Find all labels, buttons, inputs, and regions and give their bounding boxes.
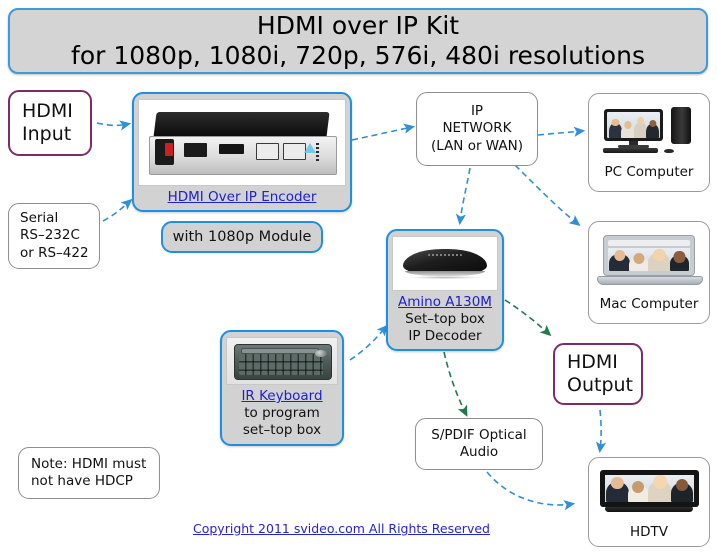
module-label: with 1080p Module xyxy=(173,229,312,245)
connector-ip-network-to-decoder xyxy=(460,168,470,222)
ip-network-line-1: IP xyxy=(471,103,483,120)
pc-computer-photo xyxy=(594,100,704,162)
node-pc-computer[interactable]: PC Computer xyxy=(588,93,710,192)
set-top-box-icon xyxy=(403,249,486,274)
led-strip-icon xyxy=(316,143,319,162)
node-hdmi-over-ip-encoder[interactable]: HDMI Over IP Encoder xyxy=(132,92,352,212)
hdmi-input-line-1: HDMI xyxy=(22,100,73,123)
rj45-port-a-icon xyxy=(256,143,279,160)
node-spdif-optical-audio[interactable]: S/PDIF Optical Audio xyxy=(415,418,543,470)
connector-hdmi-output-to-hdtv xyxy=(600,410,601,450)
node-serial-rs232c[interactable]: Serial RS–232C or RS–422 xyxy=(8,203,100,269)
note-line-1: Note: HDMI must xyxy=(31,456,146,473)
ir-keyboard-line-2: to program xyxy=(244,405,319,422)
serial-line-3: or RS–422 xyxy=(20,245,89,262)
keyboard-icon xyxy=(603,148,658,153)
node-ip-network[interactable]: IP NETWORK (LAN or WAN) xyxy=(416,92,538,166)
keyboard-icon xyxy=(234,344,333,380)
power-connector-icon xyxy=(155,139,174,165)
connector-decoder-to-spdif xyxy=(444,352,466,414)
node-amino-set-top-box[interactable]: Amino A130M Set–top box IP Decoder xyxy=(386,229,504,351)
spdif-line-2: Audio xyxy=(460,444,498,461)
hdmi-output-line-2: Output xyxy=(567,374,633,397)
hdtv-stand-icon xyxy=(605,507,693,512)
decoder-line-3: IP Decoder xyxy=(408,328,481,345)
ip-network-line-3: (LAN or WAN) xyxy=(431,138,523,155)
node-hdmi-output[interactable]: HDMI Output xyxy=(553,343,643,405)
monitor-base-icon xyxy=(618,145,649,147)
connector-decoder-to-hdmi-output xyxy=(505,300,549,334)
connector-ip-network-to-pc xyxy=(538,131,582,135)
node-hdmi-input[interactable]: HDMI Input xyxy=(8,90,92,156)
connector-ir-keyboard-to-decoder xyxy=(350,327,386,360)
note-line-2: not have HDCP xyxy=(31,473,133,490)
laptop-base-icon xyxy=(597,276,702,286)
decoder-link[interactable]: Amino A130M xyxy=(398,294,492,311)
rj45-port-b-icon xyxy=(283,143,306,160)
ir-keyboard-photo xyxy=(226,337,338,385)
connector-ip-network-to-mac xyxy=(515,165,578,224)
terminal-block-icon xyxy=(184,143,207,157)
node-1080p-module[interactable]: with 1080p Module xyxy=(161,221,323,253)
encoder-photo xyxy=(138,99,346,186)
pc-computer-caption: PC Computer xyxy=(605,164,694,180)
banner-line-1: HDMI over IP Kit xyxy=(257,11,459,42)
node-ir-keyboard[interactable]: IR Keyboard to program set–top box xyxy=(220,330,344,446)
hdtv-caption: HDTV xyxy=(630,524,668,540)
connector-spdif-to-hdtv xyxy=(487,472,572,505)
hdmi-input-line-2: Input xyxy=(22,123,71,146)
hdmi-output-line-1: HDMI xyxy=(567,351,618,374)
hdmi-port-icon xyxy=(219,144,244,153)
ip-network-line-2: NETWORK xyxy=(442,120,511,137)
connector-hdmi-input-to-encoder xyxy=(97,123,128,125)
trackball-icon xyxy=(315,350,327,357)
tower-case-icon xyxy=(671,107,691,144)
node-mac-computer[interactable]: Mac Computer xyxy=(588,221,710,324)
serial-line-1: Serial xyxy=(20,210,58,227)
spdif-line-1: S/PDIF Optical xyxy=(431,427,526,444)
title-banner: HDMI over IP Kit for 1080p, 1080i, 720p,… xyxy=(8,8,708,74)
copyright-link[interactable]: Copyright 2011 svideo.com All Rights Res… xyxy=(193,521,490,536)
mac-computer-caption: Mac Computer xyxy=(600,296,699,312)
banner-line-2: for 1080p, 1080i, 720p, 576i, 480i resol… xyxy=(71,41,645,72)
connector-serial-to-encoder xyxy=(103,201,130,221)
node-hdcp-note: Note: HDMI must not have HDCP xyxy=(18,447,160,499)
connector-encoder-to-ip-network xyxy=(352,127,412,140)
hdtv-screen-icon xyxy=(600,470,699,507)
brand-triangle-icon xyxy=(304,143,316,153)
decoder-line-2: Set–top box xyxy=(405,311,485,328)
monitor-icon xyxy=(604,109,663,141)
serial-line-2: RS–232C xyxy=(20,227,80,244)
mac-computer-photo xyxy=(594,228,704,294)
ir-keyboard-link[interactable]: IR Keyboard xyxy=(241,388,322,405)
mouse-icon xyxy=(664,149,674,153)
hdtv-photo xyxy=(594,464,704,522)
ir-keyboard-line-3: set–top box xyxy=(243,422,321,439)
encoder-link[interactable]: HDMI Over IP Encoder xyxy=(168,189,317,206)
diagram-canvas: HDMI over IP Kit for 1080p, 1080i, 720p,… xyxy=(0,0,717,555)
set-top-box-photo xyxy=(392,236,498,291)
node-hdtv[interactable]: HDTV xyxy=(588,457,710,547)
laptop-lid-icon xyxy=(603,235,695,276)
